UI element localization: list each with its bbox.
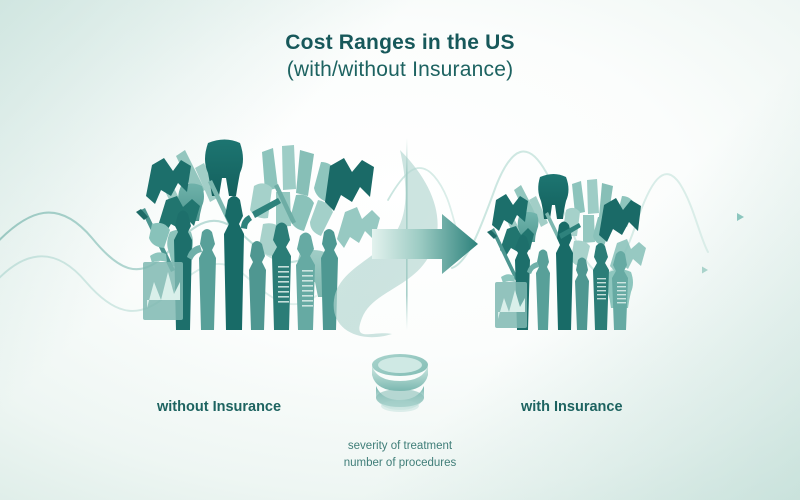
illustration-canvas: Cost Ranges in the US (with/without Insu… [0, 0, 800, 500]
center-caption: severity of treatment number of procedur… [0, 438, 800, 471]
right-dental-cluster [0, 0, 800, 500]
caption-line-2: number of procedures [0, 455, 800, 472]
label-without-insurance: without Insurance [157, 399, 281, 415]
right-cluster-monitor [495, 274, 527, 328]
caption-line-1: severity of treatment [0, 438, 800, 455]
label-with-insurance: with Insurance [521, 399, 623, 415]
